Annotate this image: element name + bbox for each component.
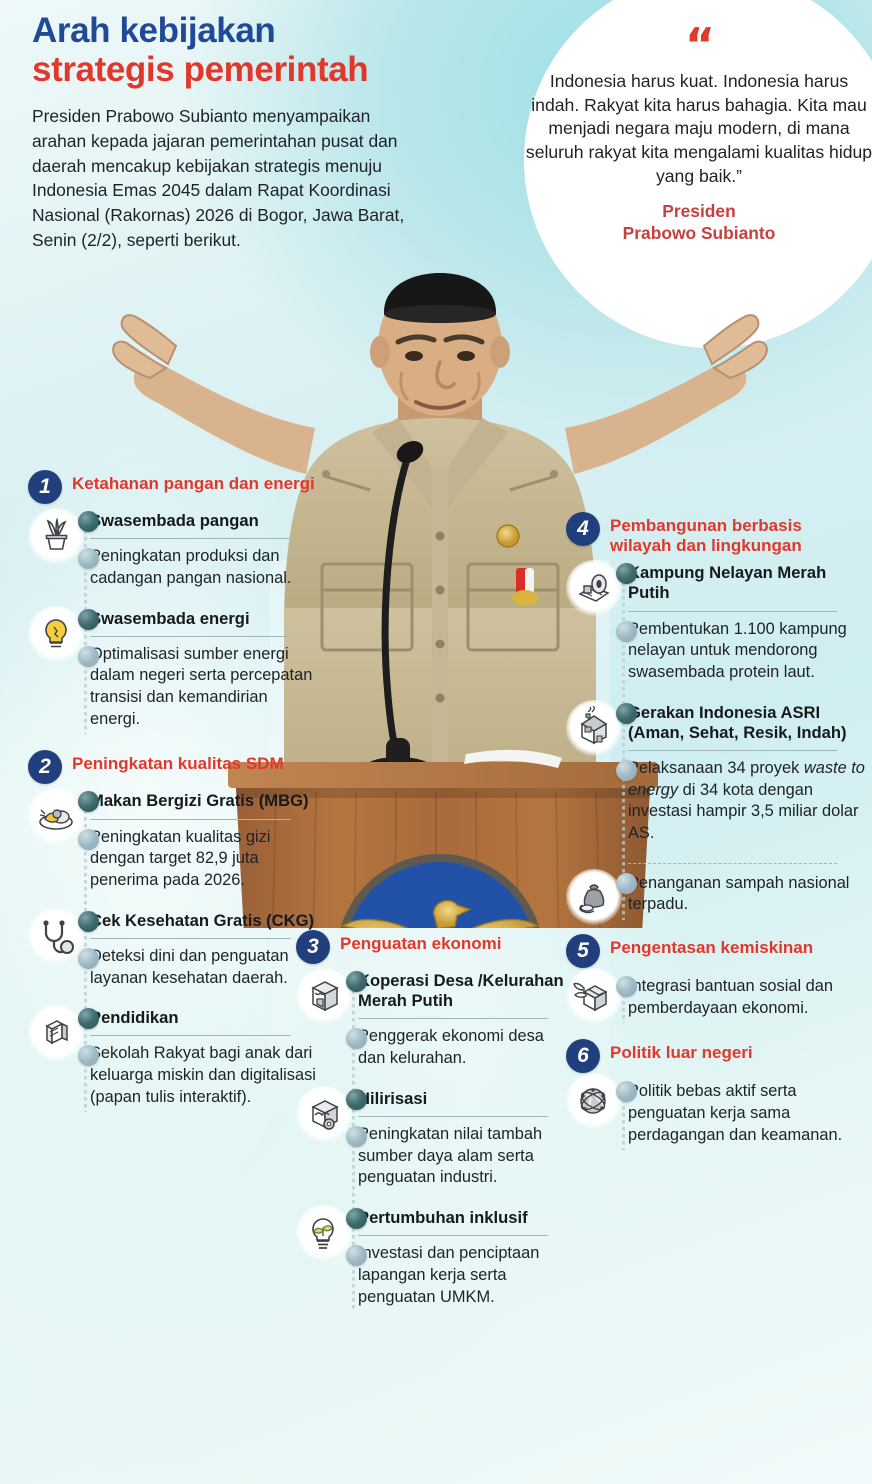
stethoscope-icon — [28, 908, 84, 964]
list-item: Pertumbuhan inklusif Investasi dan penci… — [358, 1207, 574, 1322]
fishing-net-icon — [566, 560, 622, 616]
item-divider — [358, 1235, 548, 1236]
list-item: Pendidikan Sekolah Rakyat bagi anak dari… — [90, 1007, 318, 1122]
item-divider — [90, 819, 291, 820]
item-divider — [90, 636, 291, 637]
item-body-dot — [78, 548, 99, 569]
item-body: Deteksi dini dan penguatan layanan keseh… — [90, 946, 318, 1003]
books-icon — [28, 1005, 84, 1061]
item-body-dot — [346, 1245, 367, 1266]
section-6-title: Politik luar negeri — [610, 1039, 753, 1063]
page-title-line2: strategis pemerintah — [32, 51, 502, 88]
item-title-dot — [78, 511, 99, 532]
item-body-dot — [78, 948, 99, 969]
list-item: Koperasi Desa /Kelurahan Merah Putih Pen… — [358, 970, 574, 1084]
plant-pot-icon — [28, 508, 84, 564]
item-body-dot — [346, 1028, 367, 1049]
section-4-number: 4 — [566, 512, 600, 546]
item-body-dot — [616, 621, 637, 642]
item-body-dot — [346, 1126, 367, 1147]
item-divider — [90, 938, 291, 939]
list-item: Politik bebas aktif serta penguatan kerj… — [628, 1079, 866, 1160]
item-body-dot — [78, 646, 99, 667]
house-smoke-icon — [566, 700, 622, 756]
item-divider — [628, 863, 837, 864]
section-2-number: 2 — [28, 750, 62, 784]
item-title-dot — [616, 703, 637, 724]
item-body: Peningkatan nilai tambah sumber daya ala… — [358, 1124, 574, 1203]
list-item: Swasembada pangan Peningkatan produksi d… — [90, 510, 318, 604]
section-2-header: 2 Peningkatan kualitas SDM — [28, 750, 318, 784]
item-title-dot — [616, 563, 637, 584]
list-item: Kampung Nelayan Merah Putih Pembentukan … — [628, 562, 866, 697]
item-body-text: Penggerak ekonomi desa dan kelurahan. — [358, 1027, 544, 1067]
item-divider — [358, 1116, 548, 1117]
list-item: Penanganan sampah nasional terpadu. — [628, 863, 866, 930]
item-body: Penggerak ekonomi desa dan kelurahan. — [358, 1026, 574, 1083]
item-title-dot — [346, 1089, 367, 1110]
quote-mark-icon: “ — [685, 32, 713, 60]
section-2-items: Makan Bergizi Gratis (MBG) Peningkatan k… — [28, 790, 318, 1122]
item-body-text: Penanganan sampah nasional terpadu. — [628, 874, 849, 914]
item-title: Swasembada energi — [90, 608, 318, 629]
list-item: Hilirisasi Peningkatan nilai tambah sumb… — [358, 1088, 574, 1203]
intro-paragraph: Presiden Prabowo Subianto menyampaikan a… — [32, 104, 417, 252]
section-1-number: 1 — [28, 470, 62, 504]
item-body-dot — [78, 1045, 99, 1066]
section-6-items: Politik bebas aktif serta penguatan kerj… — [566, 1079, 866, 1160]
section-4-title: Pembangunan berbasis wilayah dan lingkun… — [610, 512, 866, 556]
aid-box-icon — [566, 968, 622, 1024]
page-title-line1: Arah kebijakan — [32, 12, 502, 49]
item-title: Makan Bergizi Gratis (MBG) — [90, 790, 318, 811]
section-5-number: 5 — [566, 934, 600, 968]
section-6-number: 6 — [566, 1039, 600, 1073]
item-body: Integrasi bantuan sosial dan pemberdayaa… — [628, 974, 866, 1033]
section-6-header: 6 Politik luar negeri — [566, 1039, 866, 1073]
list-item: Integrasi bantuan sosial dan pemberdayaa… — [628, 974, 866, 1033]
item-title-dot — [78, 609, 99, 630]
section-3-items: Koperasi Desa /Kelurahan Merah Putih Pen… — [296, 970, 574, 1322]
item-body: Investasi dan penciptaan lapangan kerja … — [358, 1243, 574, 1322]
quote-attribution: Presiden Prabowo Subianto — [524, 201, 872, 245]
item-title-dot — [78, 1008, 99, 1029]
item-body: Pembentukan 1.100 kampung nelayan untuk … — [628, 619, 866, 698]
item-body: Politik bebas aktif serta penguatan kerj… — [628, 1079, 866, 1160]
item-body: Penanganan sampah nasional terpadu. — [628, 871, 866, 930]
quote-text: Indonesia harus kuat. Indonesia harus in… — [524, 70, 872, 190]
section-2: 2 Peningkatan kualitas SDM Makan Bergizi… — [28, 750, 318, 1122]
item-divider — [358, 1018, 548, 1019]
item-title: Swasembada pangan — [90, 510, 318, 531]
item-body-text: Peningkatan nilai tambah sumber daya ala… — [358, 1125, 542, 1186]
item-divider — [90, 1035, 291, 1036]
item-divider — [90, 538, 291, 539]
list-item: Gerakan Indonesia ASRI (Aman, Sehat, Res… — [628, 702, 866, 859]
item-body-text: Investasi dan penciptaan lapangan kerja … — [358, 1244, 539, 1305]
section-5-header: 5 Pengentasan kemiskinan — [566, 934, 866, 968]
factory-gear-icon — [296, 1086, 352, 1142]
section-4: 4 Pembangunan berbasis wilayah dan lingk… — [566, 512, 866, 930]
list-item: Makan Bergizi Gratis (MBG) Peningkatan k… — [90, 790, 318, 905]
section-5-title: Pengentasan kemiskinan — [610, 934, 813, 958]
item-body: Peningkatan produksi dan cadangan pangan… — [90, 546, 318, 603]
section-3-header: 3 Penguatan ekonomi — [296, 930, 574, 964]
item-body-dot — [616, 873, 637, 894]
lightbulb-icon — [28, 606, 84, 662]
item-body-text: Optimalisasi sumber energi dalam negeri … — [90, 645, 312, 728]
item-title: Hilirisasi — [358, 1088, 574, 1109]
item-body-text: Pembentukan 1.100 kampung nelayan untuk … — [628, 620, 847, 681]
item-body: Pelaksanaan 34 proyek waste to energy di… — [628, 758, 866, 859]
item-body-text: Deteksi dini dan penguatan layanan keseh… — [90, 947, 289, 987]
item-body-pre: Pelaksanaan 34 proyek — [628, 759, 804, 777]
section-1-items: Swasembada pangan Peningkatan produksi d… — [28, 510, 318, 744]
section-5-items: Integrasi bantuan sosial dan pemberdayaa… — [566, 974, 866, 1033]
section-3: 3 Penguatan ekonomi Koperasi Desa /Kelur… — [296, 930, 574, 1322]
item-title: Pertumbuhan inklusif — [358, 1207, 574, 1228]
shop-stall-icon — [296, 968, 352, 1024]
item-body-dot — [616, 976, 637, 997]
section-2-title: Peningkatan kualitas SDM — [72, 750, 284, 774]
list-item: Swasembada energi Optimalisasi sumber en… — [90, 608, 318, 745]
item-body-text: Peningkatan kualitas gizi dengan target … — [90, 828, 270, 889]
section-3-title: Penguatan ekonomi — [340, 930, 502, 954]
item-title-dot — [346, 1208, 367, 1229]
item-body: Sekolah Rakyat bagi anak dari keluarga m… — [90, 1043, 318, 1122]
section-3-number: 3 — [296, 930, 330, 964]
meal-plate-icon — [28, 788, 84, 844]
section-1: 1 Ketahanan pangan dan energi Swasembada… — [28, 470, 318, 744]
item-body-dot — [616, 760, 637, 781]
quote-attribution-line2: Prabowo Subianto — [524, 223, 872, 245]
section-1-title: Ketahanan pangan dan energi — [72, 470, 315, 494]
item-body-dot — [78, 829, 99, 850]
globe-network-icon — [566, 1073, 622, 1129]
section-4-items: Kampung Nelayan Merah Putih Pembentukan … — [566, 562, 866, 930]
item-divider — [628, 611, 837, 612]
sprout-bulb-icon — [296, 1205, 352, 1261]
item-title: Pendidikan — [90, 1007, 318, 1028]
list-item: Cek Kesehatan Gratis (CKG) Deteksi dini … — [90, 910, 318, 1004]
item-title-dot — [78, 911, 99, 932]
item-title: Koperasi Desa /Kelurahan Merah Putih — [358, 970, 574, 1011]
item-body-text: Peningkatan produksi dan cadangan pangan… — [90, 547, 291, 587]
item-title: Kampung Nelayan Merah Putih — [628, 562, 866, 603]
quote-attribution-line1: Presiden — [524, 201, 872, 223]
section-4-header: 4 Pembangunan berbasis wilayah dan lingk… — [566, 512, 866, 556]
item-body-text: Integrasi bantuan sosial dan pemberdayaa… — [628, 977, 833, 1017]
section-6: 6 Politik luar negeri — [566, 1039, 866, 1160]
column-right: 4 Pembangunan berbasis wilayah dan lingk… — [566, 512, 866, 1164]
item-body-text: Sekolah Rakyat bagi anak dari keluarga m… — [90, 1044, 316, 1105]
item-title-dot — [346, 971, 367, 992]
column-middle: 3 Penguatan ekonomi Koperasi Desa /Kelur… — [296, 930, 574, 1326]
quote-block: “ Indonesia harus kuat. Indonesia harus … — [524, 32, 872, 245]
item-body: Optimalisasi sumber energi dalam negeri … — [90, 644, 318, 745]
column-left: 1 Ketahanan pangan dan energi Swasembada… — [28, 470, 318, 1126]
header: Arah kebijakan strategis pemerintah Pres… — [32, 12, 502, 252]
section-5: 5 Pengentasan kemiskinan — [566, 934, 866, 1033]
item-body: Peningkatan kualitas gizi dengan target … — [90, 827, 318, 906]
item-title: Cek Kesehatan Gratis (CKG) — [90, 910, 318, 931]
trash-bag-icon — [566, 869, 622, 925]
section-1-header: 1 Ketahanan pangan dan energi — [28, 470, 318, 504]
item-title: Gerakan Indonesia ASRI (Aman, Sehat, Res… — [628, 702, 866, 743]
item-divider — [628, 750, 837, 751]
item-body-text: Politik bebas aktif serta penguatan kerj… — [628, 1082, 842, 1143]
